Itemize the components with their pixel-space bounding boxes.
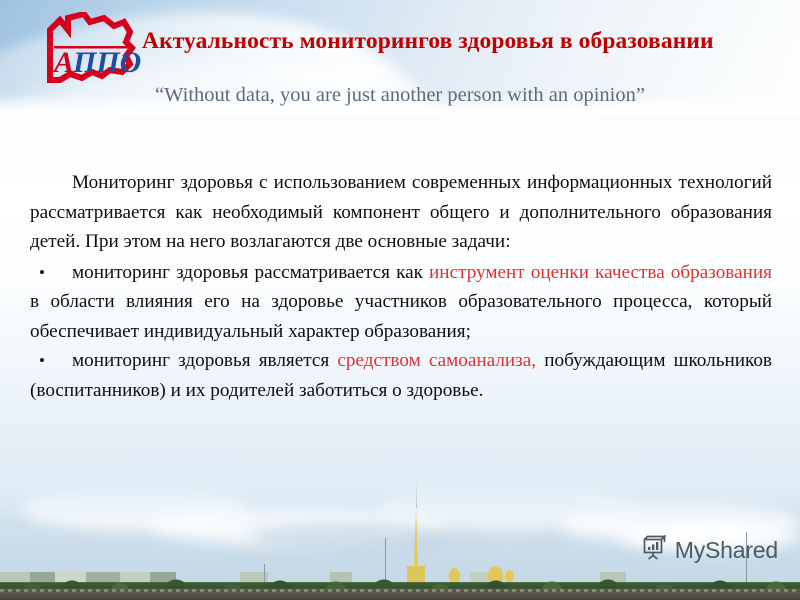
page-title: Актуальность мониторингов здоровья в обр…	[142, 28, 798, 55]
bullet-lead-text: мониторинг здоровья рассматривается как	[72, 262, 429, 283]
bullet-accent-text: средством самоанализа,	[337, 350, 536, 371]
list-item: •мониторинг здоровья является средством …	[30, 346, 772, 405]
bullet-marker: •	[39, 258, 49, 288]
logo-wordmark: А ППО	[52, 46, 141, 79]
photo-top-fade	[0, 478, 800, 524]
slide-body: Мониторинг здоровья с использованием сов…	[30, 168, 772, 405]
slide-canvas: А ППО Актуальность мониторингов здоровья…	[0, 0, 800, 600]
bullet-marker: •	[39, 346, 49, 376]
myshared-label: MyShared	[675, 539, 778, 562]
presentation-chart-icon	[641, 534, 668, 566]
appo-logo: А ППО	[38, 12, 146, 84]
fortress-wall	[0, 589, 800, 600]
slide-quote: “Without data, you are just another pers…	[0, 84, 800, 107]
list-item: •мониторинг здоровья рассматривается как…	[30, 258, 772, 347]
bullet-tail-text: в области влияния его на здоровье участн…	[30, 291, 772, 342]
svg-text:А: А	[52, 46, 74, 79]
intro-paragraph: Мониторинг здоровья с использованием сов…	[30, 168, 772, 257]
bullet-accent-text: инструмент оценки качества образования	[429, 262, 772, 283]
cloud	[250, 522, 450, 552]
svg-text:ППО: ППО	[72, 46, 141, 79]
myshared-watermark: MyShared	[641, 534, 778, 566]
bullet-lead-text: мониторинг здоровья является	[72, 350, 337, 371]
